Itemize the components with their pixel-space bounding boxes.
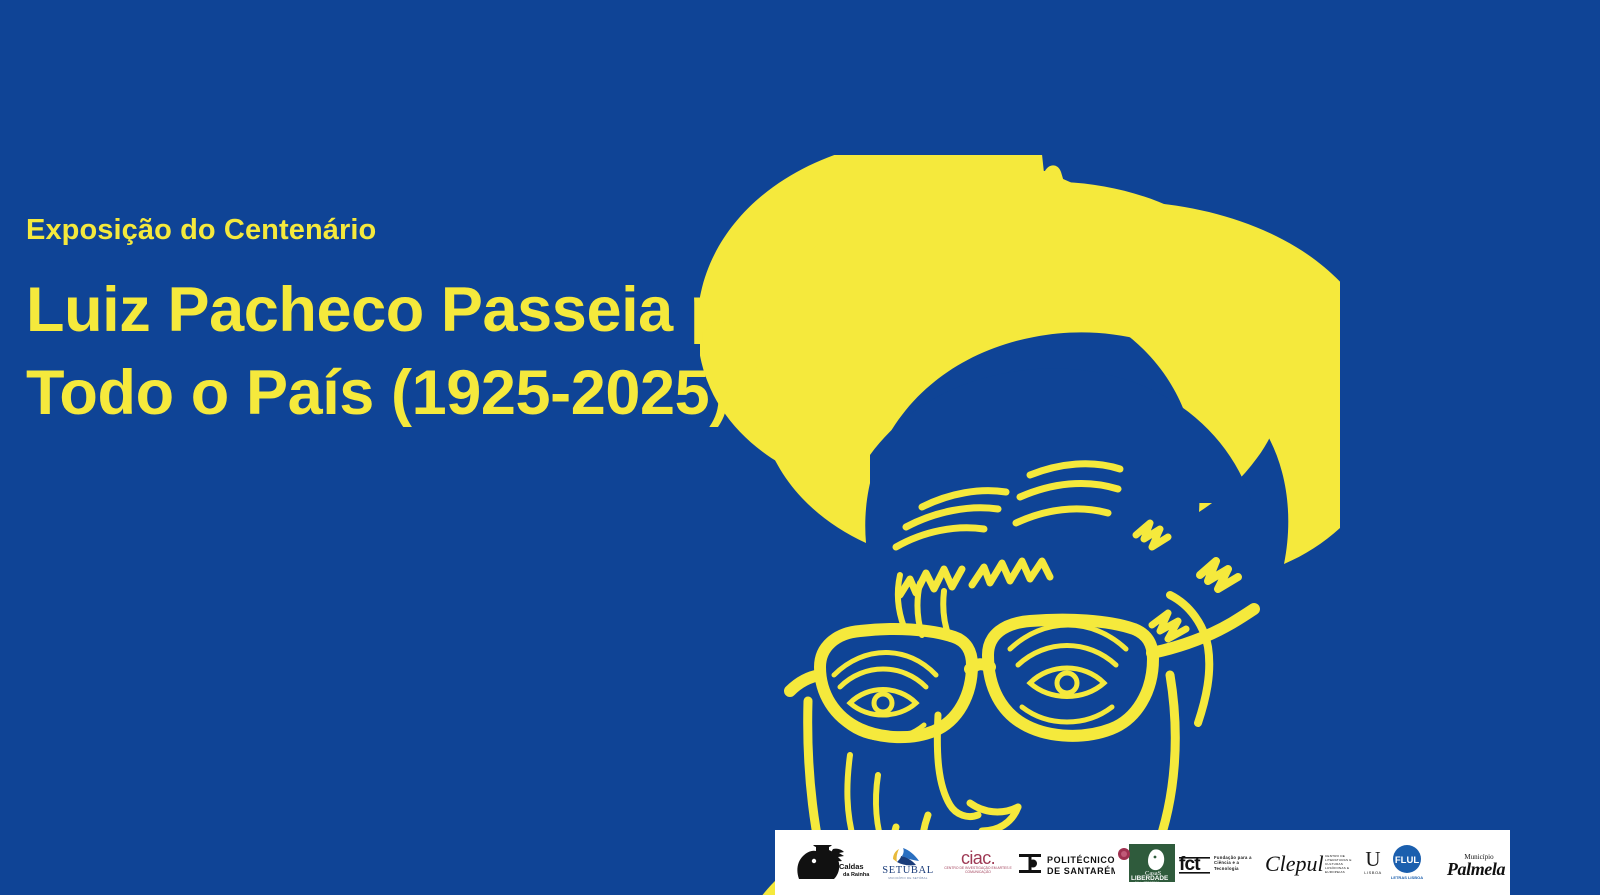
- logo-setubal-secondary: MUNICÍPIO DE SETÚBAL: [888, 875, 927, 880]
- logo-clepul-secondary: CENTRO DE LITERATURAS E CULTURAS LUSÓFON…: [1325, 854, 1359, 874]
- logo-caldas-da-rainha: Caldas da Rainha: [789, 840, 875, 886]
- logo-setubal: SETÚBAL MUNICÍPIO DE SETÚBAL: [875, 840, 941, 886]
- page-title: Luiz Pacheco Passeia por Todo o País (19…: [26, 269, 786, 435]
- logo-municipio-palmela: Município Palmela: [1437, 840, 1515, 886]
- logo-clepul-primary: Clepul: [1265, 851, 1324, 876]
- logo-ulisboa-sub: LISBOA: [1364, 870, 1381, 875]
- logo-setubal-primary: SETÚBAL: [882, 864, 933, 876]
- sponsor-logo-bar: Caldas da Rainha SETÚBAL MUNICÍPIO DE SE…: [775, 830, 1510, 895]
- logo-flul-primary: FLUL: [1395, 855, 1419, 866]
- logo-politecnico-de-santarem: POLITÉCNICO DE SANTARÉM: [1015, 840, 1115, 886]
- logo-fct: fct Fundação para a Ciência e a Tecnolog…: [1177, 840, 1263, 886]
- logo-politecnico-secondary: DE SANTARÉM: [1047, 866, 1115, 876]
- poster-eyebrow: Exposição do Centenário: [26, 215, 786, 247]
- logo-fct-secondary: Fundação para a Ciência e a Tecnologia: [1214, 855, 1262, 871]
- logo-ciac: ciac. CENTRO DE INVESTIGAÇÃO EM ARTES E …: [941, 840, 1015, 886]
- logo-clepul: Clepul CENTRO DE LITERATURAS E CULTURAS …: [1263, 840, 1361, 886]
- luiz-pacheco-portrait-illustration: [700, 155, 1340, 895]
- logo-ciac-primary: ciac.: [961, 848, 995, 868]
- exhibition-poster: Exposição do Centenário Luiz Pacheco Pas…: [0, 0, 1600, 895]
- logo-caldas-secondary: da Rainha: [843, 872, 870, 878]
- poster-text-block: Exposição do Centenário Luiz Pacheco Pas…: [26, 215, 786, 435]
- logo-casas-liberdade: CasaS LIBERDADE Mário CESARINY: [1115, 840, 1177, 886]
- logo-ciac-secondary: CENTRO DE INVESTIGAÇÃO EM ARTES E COMUNI…: [943, 866, 1013, 875]
- politecnico-mark-icon: [1019, 854, 1041, 873]
- title-line-2: Todo o País (1925-2025): [26, 352, 786, 435]
- logo-flul-sub: LETRAS LISBOA: [1391, 875, 1423, 880]
- logo-politecnico-primary: POLITÉCNICO: [1047, 855, 1115, 865]
- logo-flul-ulisboa: U LISBOA FLUL LETRAS LISBOA: [1361, 840, 1437, 886]
- title-line-1: Luiz Pacheco Passeia por: [26, 269, 786, 352]
- setubal-bird-icon: [893, 848, 919, 865]
- logo-ulisboa-primary: U: [1365, 847, 1380, 871]
- logo-caldas-primary: Caldas: [839, 862, 864, 871]
- logo-liberdade-tertiary: Mário CESARINY: [1135, 880, 1159, 884]
- logo-palmela-primary: Palmela: [1446, 859, 1506, 879]
